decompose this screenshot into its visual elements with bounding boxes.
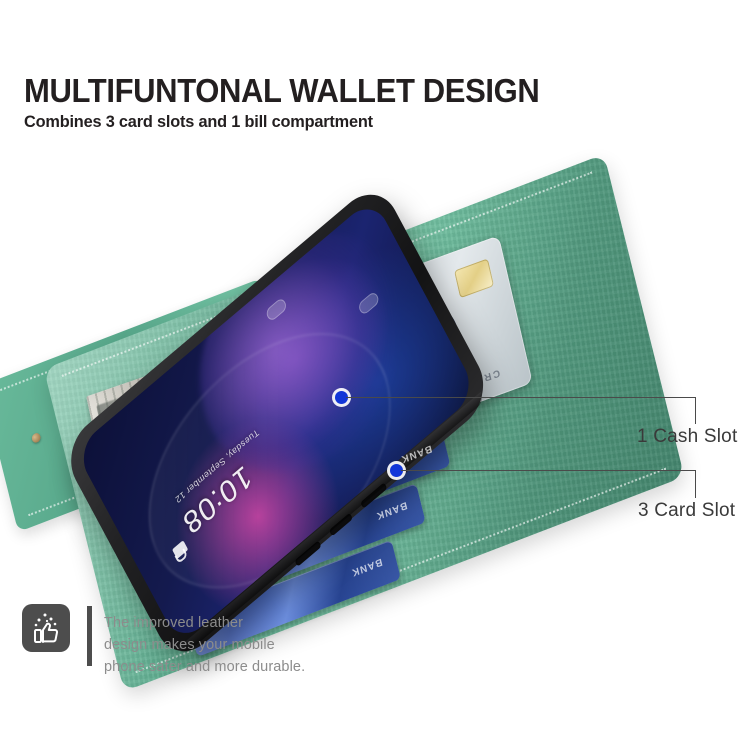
footer-line: phone safer and more durable.	[104, 656, 305, 678]
chip-icon	[454, 258, 494, 298]
product-photo: 1234 5678 9012 00/00 CREDIT CARD BANK BA…	[0, 160, 750, 590]
product-marketing-banner: MULTIFUNTONAL WALLET DESIGN Combines 3 c…	[0, 0, 750, 750]
snap-button	[31, 432, 42, 444]
page-subtitle: Combines 3 card slots and 1 bill compart…	[24, 112, 373, 132]
feature-badge	[22, 604, 70, 652]
footer-line: The improved leather	[104, 612, 305, 634]
card-slot-label: BANK	[375, 499, 408, 522]
callout-label-cash: 1 Cash Slot	[637, 426, 737, 448]
card-slot-label: BANK	[350, 556, 383, 579]
thumbs-up-icon	[30, 611, 62, 645]
callout-leader-vertical	[695, 470, 696, 498]
page-title: MULTIFUNTONAL WALLET DESIGN	[24, 72, 539, 110]
callout-leader-vertical	[695, 397, 696, 424]
footer-description: The improved leather design makes your m…	[104, 612, 305, 678]
wallet-body: 1234 5678 9012 00/00 CREDIT CARD BANK BA…	[44, 154, 685, 692]
footer-divider	[87, 606, 92, 666]
callout-leader-horizontal	[401, 470, 695, 471]
footer-line: design makes your mobile	[104, 634, 305, 656]
callout-leader-horizontal	[346, 397, 695, 398]
callout-label-card: 3 Card Slot	[638, 500, 735, 522]
